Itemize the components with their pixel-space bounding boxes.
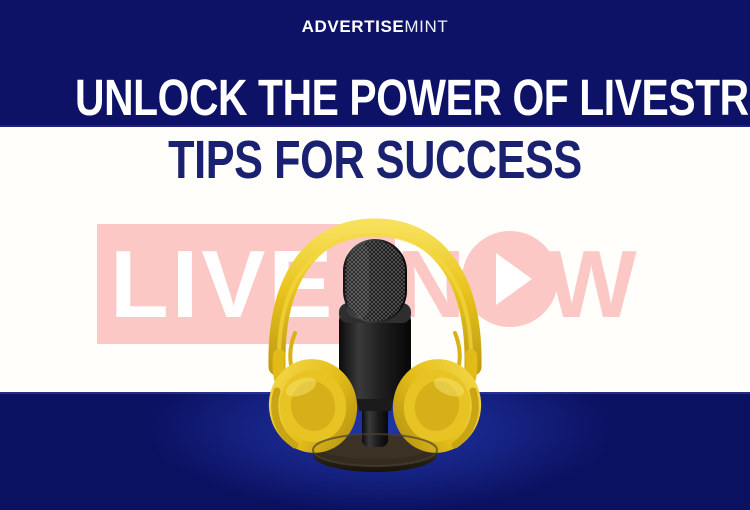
headline-line-2: TIPS FOR SUCCESS xyxy=(75,133,675,187)
microphone-with-headphones xyxy=(255,215,495,485)
now-letter-w: W xyxy=(546,231,640,338)
livestreaming-promo-banner: ADVERTISEMINT UNLOCK THE POWER OF LIVEST… xyxy=(0,0,750,510)
logo-bold-part: ADVERTISE xyxy=(302,17,405,36)
logo-light-part: MINT xyxy=(404,17,448,36)
play-triangle-icon xyxy=(496,253,532,305)
brand-logo: ADVERTISEMINT xyxy=(0,18,750,35)
headline-line-1: UNLOCK THE POWER OF LIVESTREAMING: xyxy=(75,72,675,123)
